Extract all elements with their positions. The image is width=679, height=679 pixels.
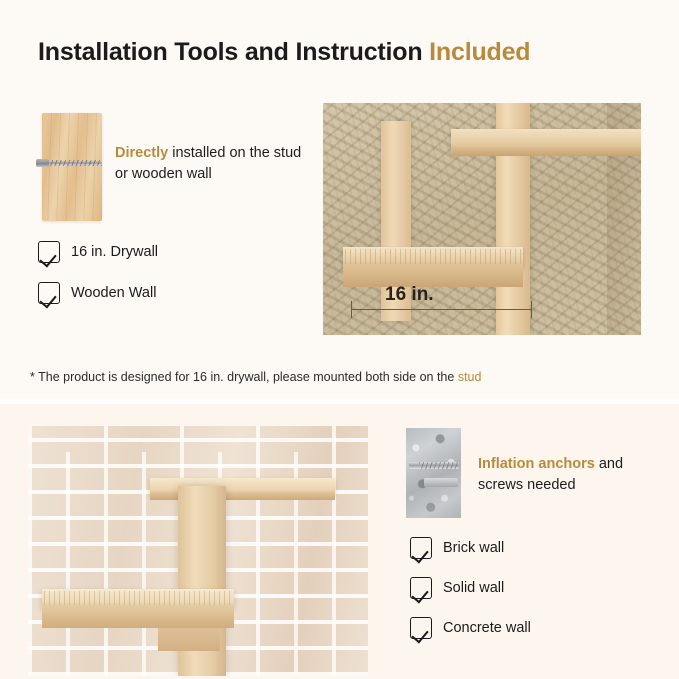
footnote: * The product is designed for 16 in. dry… [30,370,481,384]
lower-shelf-mat [345,249,521,264]
checklist-label: Wooden Wall [71,285,156,301]
check-icon [38,282,60,304]
check-icon [410,617,432,639]
bottom-section [0,404,679,679]
product-infographic: Installation Tools and Instruction Inclu… [0,0,679,679]
checklist-item-wooden-wall: Wooden Wall [38,282,156,304]
check-icon [410,577,432,599]
footnote-text: * The product is designed for 16 in. dry… [30,370,458,384]
wood-board [42,113,102,221]
wood-grain-texture [42,113,102,221]
inflation-anchor-photo [406,428,461,518]
lower-shelf-mat [44,591,232,605]
checklist-label: Brick wall [443,540,504,556]
checklist-label: 16 in. Drywall [71,244,158,260]
screw-icon [36,159,102,167]
checklist-item-drywall: 16 in. Drywall [38,241,158,263]
concrete-texture [406,428,461,518]
anchor-description: Inflation anchors and screws needed [478,454,658,496]
stud-description-accent: Directly [115,145,168,161]
stud-description: Directly installed on the stud or wooden… [115,143,305,185]
checklist-label: Concrete wall [443,620,531,636]
anchor-description-accent: Inflation anchors [478,456,595,472]
brick-wall-installation-photo [28,426,368,676]
page-title-main: Installation Tools and Instruction [38,38,429,66]
check-icon [410,537,432,559]
lower-shelf-edge [42,606,234,628]
anchor-sleeve-icon [424,478,458,487]
checklist-item-solid-wall: Solid wall [410,577,504,599]
checklist-item-concrete-wall: Concrete wall [410,617,531,639]
stud-board-illustration [36,113,102,221]
screw-thread [48,160,102,166]
footnote-accent: stud [458,370,482,384]
drywall-installation-photo: 16 in. [323,103,641,335]
checklist-item-brick-wall: Brick wall [410,537,504,559]
upper-shelf-edge [451,147,641,156]
screw-head [36,159,49,167]
page-title-accent: Included [429,38,530,66]
dimension-tick-right [531,301,532,318]
check-icon [38,241,60,263]
anchor-screw-icon [409,462,459,469]
dimension-line [351,309,531,310]
top-section: Installation Tools and Instruction Inclu… [0,0,679,400]
checklist-label: Solid wall [443,580,504,596]
dimension-label: 16 in. [385,284,434,306]
page-title: Installation Tools and Instruction Inclu… [38,38,530,67]
